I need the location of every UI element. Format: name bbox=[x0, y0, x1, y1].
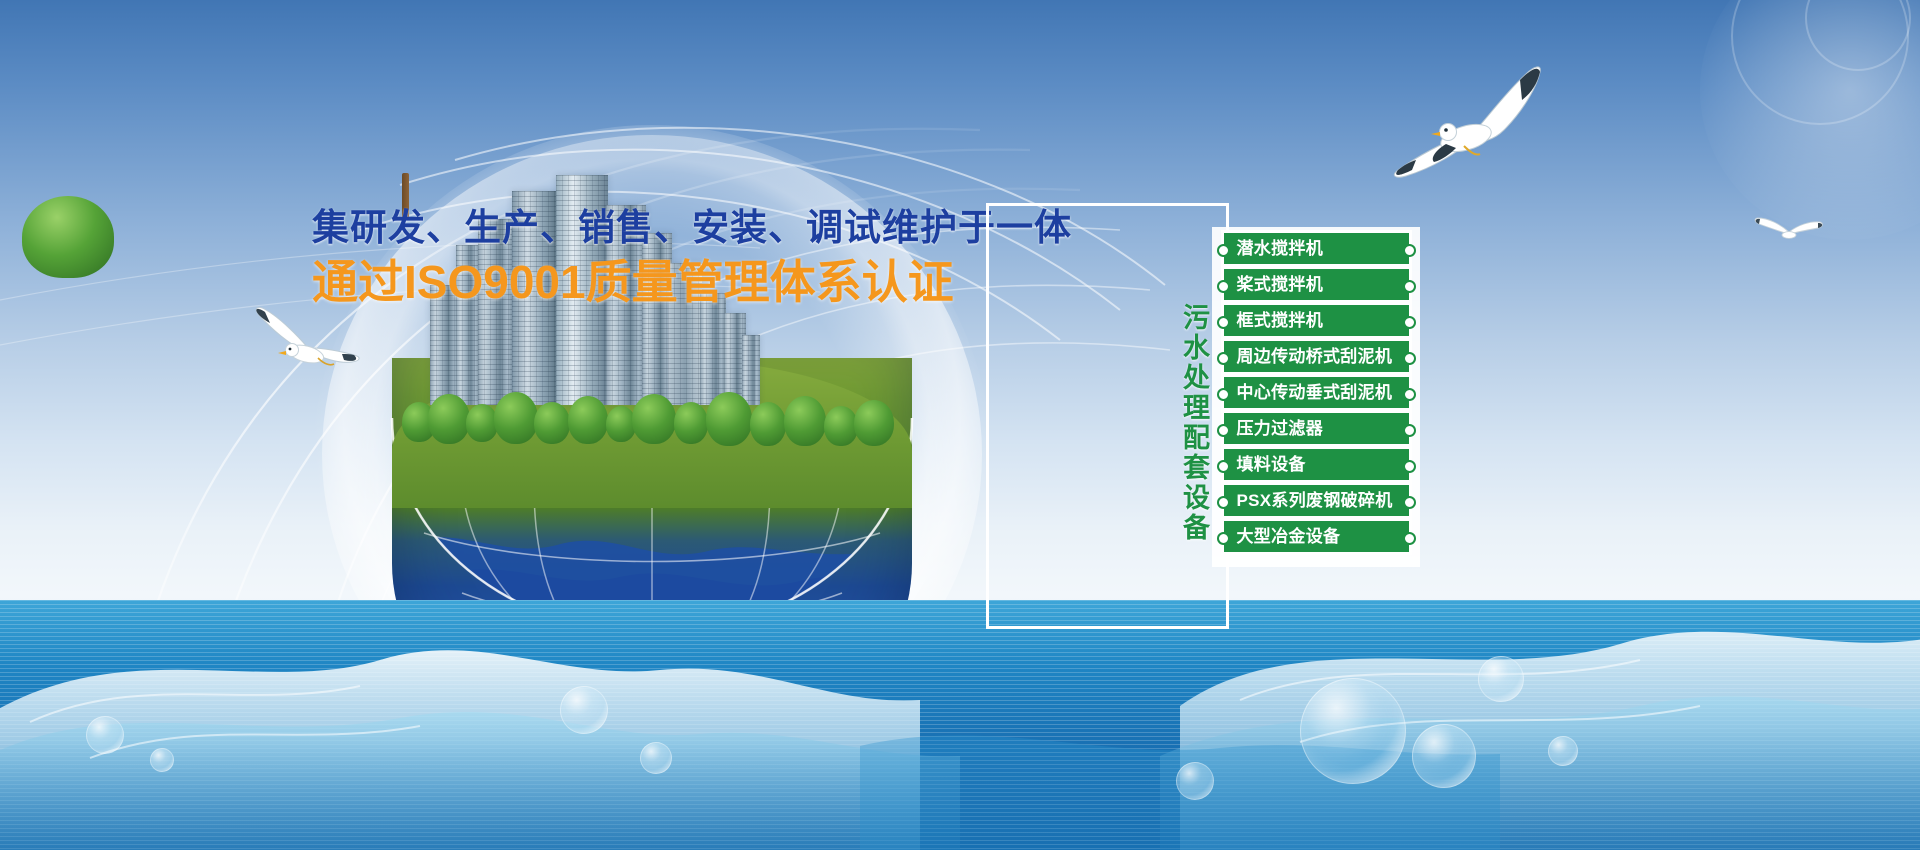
product-menu-item-label: 压力过滤器 bbox=[1226, 420, 1324, 437]
lens-flare-top-right bbox=[1700, 0, 1920, 240]
product-menu-item-label: 框式搅拌机 bbox=[1226, 312, 1324, 329]
product-panel-vertical-title: 污水处理配套设备 bbox=[1173, 303, 1207, 543]
wave-shapes bbox=[0, 510, 1920, 850]
product-menu-list[interactable]: 潜水搅拌机桨式搅拌机框式搅拌机周边传动桥式刮泥机中心传动垂式刮泥机压力过滤器填料… bbox=[1212, 227, 1420, 567]
product-menu-item[interactable]: 潜水搅拌机 bbox=[1224, 233, 1409, 264]
water-bubble bbox=[150, 748, 174, 772]
water-bubble bbox=[1300, 678, 1406, 784]
seagull-small-icon bbox=[1754, 212, 1824, 250]
water-bubble bbox=[1176, 762, 1214, 800]
product-menu-item-label: 大型冶金设备 bbox=[1226, 528, 1341, 545]
product-menu-item[interactable]: 填料设备 bbox=[1224, 449, 1409, 480]
water-bubble bbox=[1548, 736, 1578, 766]
product-menu-item[interactable]: 桨式搅拌机 bbox=[1224, 269, 1409, 300]
water-bubble bbox=[640, 742, 672, 774]
product-menu-item[interactable]: 大型冶金设备 bbox=[1224, 521, 1409, 552]
product-menu-item[interactable]: 周边传动桥式刮泥机 bbox=[1224, 341, 1409, 372]
water-bubble bbox=[1478, 656, 1524, 702]
product-menu-item-label: 潜水搅拌机 bbox=[1226, 240, 1324, 257]
tree-line bbox=[400, 380, 900, 450]
foreground-tree-canopy bbox=[22, 196, 114, 278]
product-menu-item-label: 中心传动垂式刮泥机 bbox=[1226, 384, 1393, 401]
product-menu-item[interactable]: 压力过滤器 bbox=[1224, 413, 1409, 444]
headline-primary: 集研发、生产、销售、安装、调试维护于一体 bbox=[312, 205, 952, 251]
water-scene bbox=[0, 510, 1920, 850]
product-menu-item-label: 填料设备 bbox=[1226, 456, 1306, 473]
product-menu-item-label: 周边传动桥式刮泥机 bbox=[1226, 348, 1393, 365]
water-bubble bbox=[560, 686, 608, 734]
headline-secondary: 通过ISO9001质量管理体系认证 bbox=[312, 257, 952, 309]
product-menu-item[interactable]: 中心传动垂式刮泥机 bbox=[1224, 377, 1409, 408]
seagull-left-icon bbox=[252, 300, 362, 392]
product-menu-item-label: PSX系列废钢破碎机 bbox=[1226, 492, 1393, 509]
headline-block: 集研发、生产、销售、安装、调试维护于一体 通过ISO9001质量管理体系认证 bbox=[312, 205, 952, 309]
seagull-large-icon bbox=[1380, 52, 1560, 187]
water-bubble bbox=[86, 716, 124, 754]
promo-banner: 集研发、生产、销售、安装、调试维护于一体 通过ISO9001质量管理体系认证 污… bbox=[0, 0, 1920, 850]
water-bubble bbox=[1412, 724, 1476, 788]
product-menu-item[interactable]: 框式搅拌机 bbox=[1224, 305, 1409, 336]
product-menu-item-label: 桨式搅拌机 bbox=[1226, 276, 1324, 293]
product-menu-item[interactable]: PSX系列废钢破碎机 bbox=[1224, 485, 1409, 516]
